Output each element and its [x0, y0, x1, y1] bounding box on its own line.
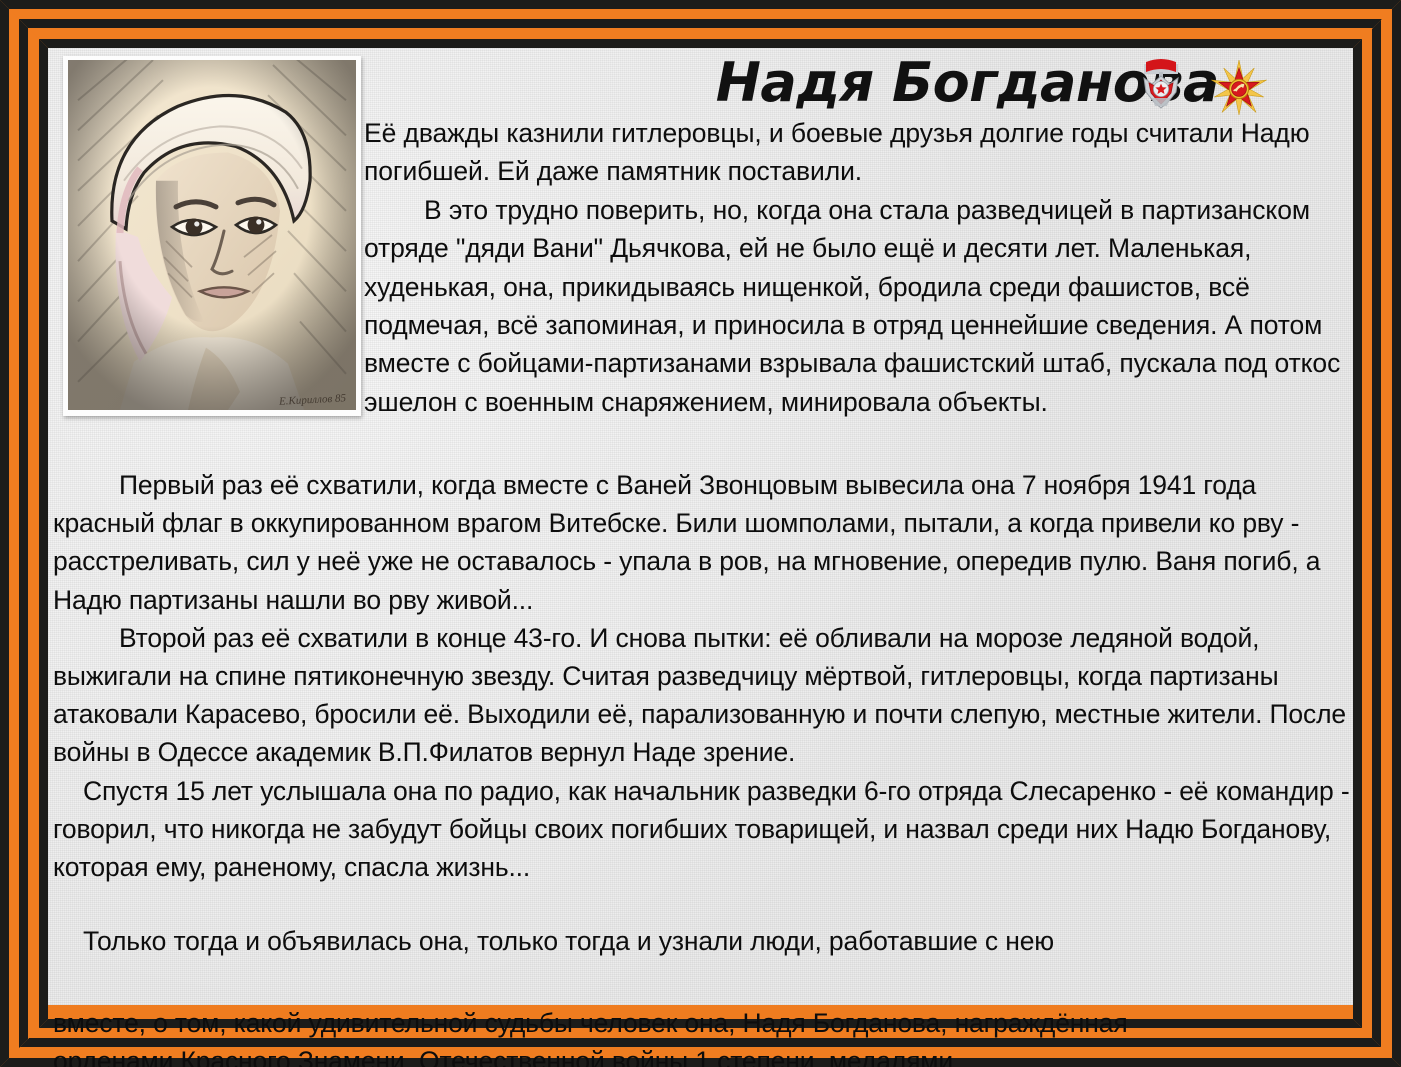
intro-paragraph-1: Её дважды казнили гитлеровцы, и боевые д… [364, 114, 1349, 191]
slide-content: Е.Кириллов 85 Надя Богданова [48, 48, 1353, 1005]
ribbon-edge-top [0, 0, 1401, 48]
ribbon-edge-left [0, 0, 48, 1067]
order-of-the-patriotic-war-icon [1210, 58, 1268, 118]
intro-paragraph-2: В это трудно поверить, но, когда она ста… [364, 191, 1349, 421]
portrait-image: Е.Кириллов 85 [68, 60, 356, 410]
body-paragraph-1: Первый раз её схватили, когда вместе с В… [53, 466, 1353, 619]
content-sheet: Е.Кириллов 85 Надя Богданова [48, 48, 1353, 1005]
body-text: Первый раз её схватили, когда вместе с В… [53, 466, 1353, 960]
slide: Е.Кириллов 85 Надя Богданова [0, 0, 1401, 1067]
ribbon-edge-right [1353, 0, 1401, 1067]
title-row: Надя Богданова [364, 52, 1349, 122]
body-paragraph-3: Спустя 15 лет услышала она по радио, как… [53, 772, 1353, 887]
body-paragraph-4: Только тогда и объявилась она, только то… [53, 922, 1353, 960]
portrait-frame: Е.Кириллов 85 [63, 56, 361, 416]
intro-text-column: Её дважды казнили гитлеровцы, и боевые д… [364, 114, 1349, 421]
portrait-sketch-icon [68, 60, 356, 410]
page-title: Надя Богданова [364, 52, 1219, 114]
ribbon-edge-bottom [0, 1019, 1401, 1067]
body-paragraph-2: Второй раз её схватили в конце 43-го. И … [53, 619, 1353, 772]
medals-group [1134, 58, 1334, 120]
order-of-the-red-banner-icon [1134, 58, 1188, 118]
